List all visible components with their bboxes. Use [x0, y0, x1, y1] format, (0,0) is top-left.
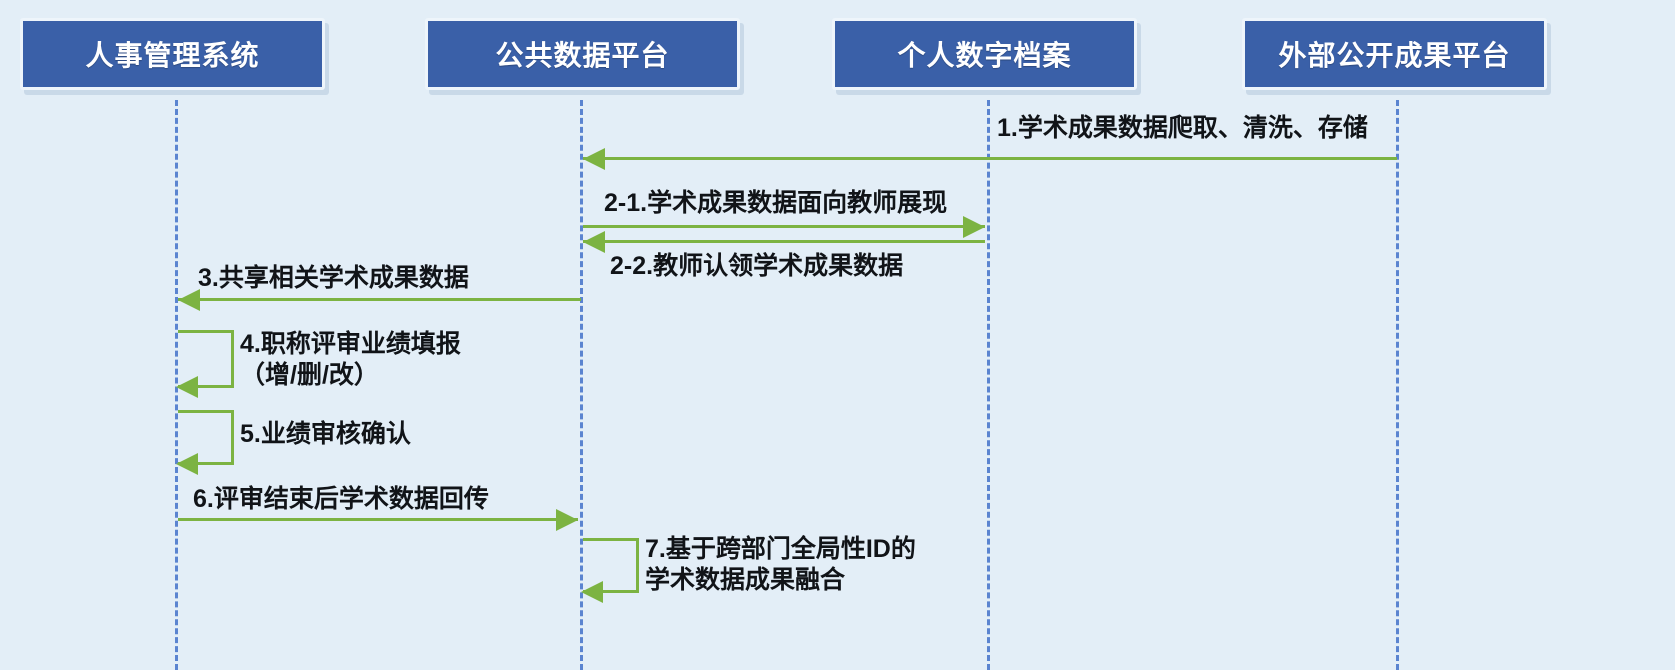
message-label-m2-2: 2-2.教师认领学术成果数据 — [610, 251, 903, 282]
arrow-head-m2-1 — [963, 216, 985, 238]
message-label-m3: 3.共享相关学术成果数据 — [198, 263, 469, 294]
message-label-m7: 7.基于跨部门全局性ID的 学术数据成果融合 — [645, 534, 916, 595]
message-label-m2-1: 2-1.学术成果数据面向教师展现 — [604, 188, 947, 219]
actor-box-hr[interactable]: 人事管理系统 — [20, 18, 325, 90]
arrow-head-m1 — [583, 148, 605, 170]
lifeline-personal — [987, 100, 990, 670]
actor-box-external[interactable]: 外部公开成果平台 — [1242, 18, 1547, 90]
arrow-head-m6 — [556, 509, 578, 531]
arrow-head-m3 — [178, 289, 200, 311]
message-line-m6 — [178, 518, 578, 521]
arrow-head-m2-2 — [583, 231, 605, 253]
arrow-head-m7 — [581, 581, 603, 603]
arrow-head-m5 — [176, 453, 198, 475]
message-label-m5: 5.业绩审核确认 — [240, 419, 411, 450]
message-label-m1: 1.学术成果数据爬取、清洗、存储 — [997, 113, 1368, 144]
arrow-head-m4 — [176, 376, 198, 398]
sequence-diagram-canvas: 人事管理系统公共数据平台个人数字档案外部公开成果平台1.学术成果数据爬取、清洗、… — [0, 0, 1675, 670]
message-line-m2-2 — [583, 240, 985, 243]
message-line-m3 — [178, 298, 581, 301]
message-line-m1 — [583, 157, 1397, 160]
lifeline-external — [1396, 100, 1399, 670]
actor-box-personal[interactable]: 个人数字档案 — [832, 18, 1137, 90]
message-line-m2-1 — [583, 225, 985, 228]
message-label-m4: 4.职称评审业绩填报 （增/删/改） — [240, 329, 461, 390]
actor-label-public: 公共数据平台 — [495, 34, 669, 74]
actor-label-personal: 个人数字档案 — [897, 34, 1071, 74]
message-label-m6: 6.评审结束后学术数据回传 — [193, 484, 489, 515]
actor-label-external: 外部公开成果平台 — [1278, 34, 1510, 74]
actor-label-hr: 人事管理系统 — [85, 34, 259, 74]
actor-box-public[interactable]: 公共数据平台 — [425, 18, 740, 90]
